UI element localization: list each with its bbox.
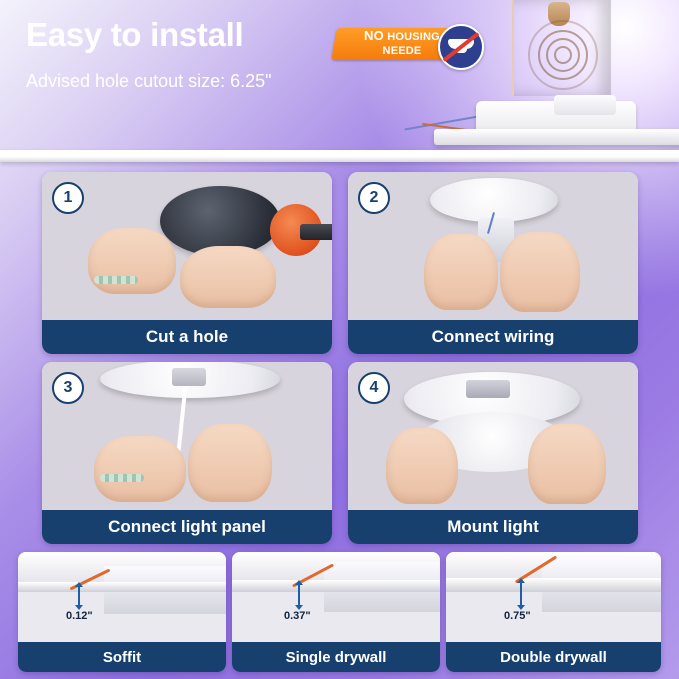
step-4-photo bbox=[348, 362, 638, 510]
step-card-3: 3 Connect light panel bbox=[42, 362, 332, 544]
drill-chuck bbox=[300, 224, 332, 240]
badge-line1: NO bbox=[364, 28, 384, 43]
step-caption-3: Connect light panel bbox=[42, 510, 332, 544]
double-drywall-photo: 0.75" bbox=[446, 552, 661, 642]
fixture-flange bbox=[434, 129, 679, 145]
wood-joist-photo bbox=[512, 0, 611, 96]
prohibition-slash bbox=[442, 32, 479, 62]
left-hand bbox=[88, 228, 176, 294]
step-caption-4: Mount light bbox=[348, 510, 638, 544]
step-caption-1: Cut a hole bbox=[42, 320, 332, 354]
depth-measure-label: 0.12" bbox=[66, 610, 93, 622]
depth-card-double-drywall: 0.75" Double drywall bbox=[446, 552, 661, 672]
depth-caption-soffit: Soffit bbox=[18, 642, 226, 672]
page-title: Easy to install bbox=[26, 16, 243, 54]
depth-caption-double-drywall: Double drywall bbox=[446, 642, 661, 672]
ceiling-flange bbox=[18, 582, 226, 592]
panel-connector bbox=[172, 368, 206, 386]
ceiling-flange bbox=[232, 580, 440, 592]
step-3-photo bbox=[42, 362, 332, 510]
light-fixture-photo bbox=[404, 95, 679, 153]
badge-line2: HOUSING bbox=[387, 31, 440, 43]
badge-line3: NEEDE bbox=[383, 45, 422, 57]
left-hand bbox=[94, 436, 186, 502]
wood-ring-4 bbox=[528, 20, 598, 90]
depth-arrow bbox=[78, 586, 80, 606]
header-shelf-divider bbox=[0, 150, 679, 162]
depth-arrow bbox=[298, 584, 300, 606]
step-number-3: 3 bbox=[52, 372, 84, 404]
depth-measure-label: 0.37" bbox=[284, 610, 311, 622]
page-subtitle: Advised hole cutout size: 6.25" bbox=[26, 71, 272, 92]
step-number-4: 4 bbox=[358, 372, 390, 404]
soffit-photo: 0.12" bbox=[18, 552, 226, 642]
bracelet bbox=[100, 474, 144, 482]
panel-connector bbox=[466, 380, 510, 398]
right-hand bbox=[188, 424, 272, 502]
right-hand bbox=[180, 246, 276, 308]
no-housing-icon bbox=[438, 24, 484, 70]
ceiling-flange bbox=[446, 578, 661, 592]
step-card-1: 1 Cut a hole bbox=[42, 172, 332, 354]
left-hand bbox=[424, 234, 498, 310]
install-instructions-page: Easy to install Advised hole cutout size… bbox=[0, 0, 679, 679]
step-card-2: 2 Connect wiring bbox=[348, 172, 638, 354]
no-housing-badge: NO HOUSING NEEDE bbox=[334, 24, 484, 64]
depth-card-single-drywall: 0.37" Single drywall bbox=[232, 552, 440, 672]
single-drywall-photo: 0.37" bbox=[232, 552, 440, 642]
step-number-1: 1 bbox=[52, 182, 84, 214]
step-1-photo bbox=[42, 172, 332, 320]
depth-measure-label: 0.75" bbox=[504, 610, 531, 622]
depth-arrow bbox=[520, 582, 522, 606]
bracelet bbox=[94, 276, 138, 284]
header: Easy to install Advised hole cutout size… bbox=[0, 0, 679, 160]
left-hand bbox=[386, 428, 458, 504]
depth-card-soffit: 0.12" Soffit bbox=[18, 552, 226, 672]
step-card-4: 4 Mount light bbox=[348, 362, 638, 544]
right-hand bbox=[528, 424, 606, 504]
right-hand bbox=[500, 232, 580, 312]
depth-caption-single-drywall: Single drywall bbox=[232, 642, 440, 672]
step-2-photo bbox=[348, 172, 638, 320]
fixture-junction-box bbox=[554, 95, 616, 115]
step-number-2: 2 bbox=[358, 182, 390, 214]
step-caption-2: Connect wiring bbox=[348, 320, 638, 354]
